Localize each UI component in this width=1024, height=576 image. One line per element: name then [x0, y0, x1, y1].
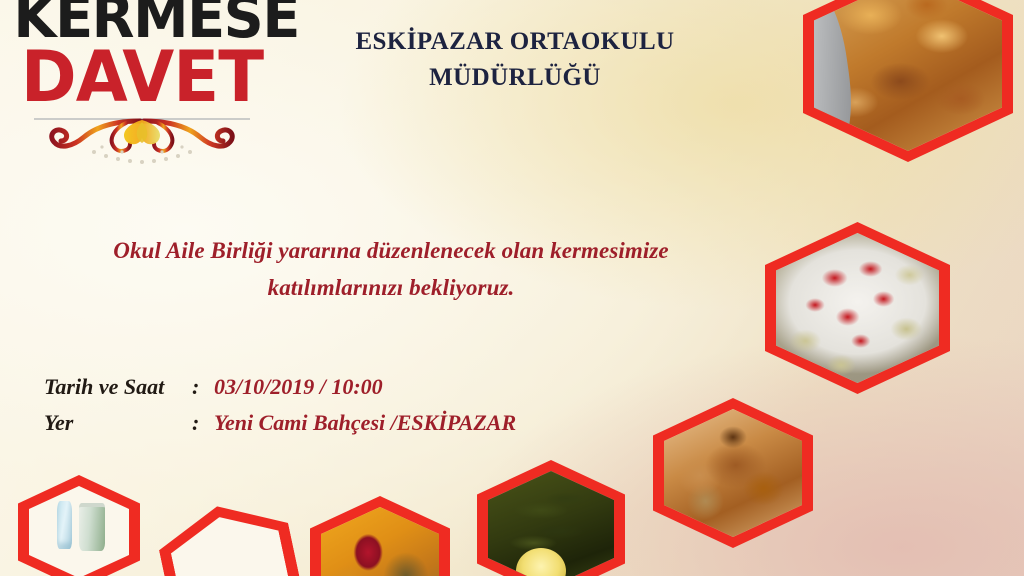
photo-hexagon-bundt-cake — [653, 398, 813, 548]
invitation-text: Okul Aile Birliği yararına düzenlenecek … — [46, 232, 736, 307]
event-details: Tarih ve Saat : 03/10/2019 / 10:00 Yer :… — [44, 369, 604, 440]
photo-hexagon-pide-slice — [153, 493, 308, 576]
detail-value-place: Yeni Cami Bahçesi /ESKİPAZAR — [214, 405, 516, 441]
organization-title: ESKİPAZAR ORTAOKULU MÜDÜRLÜĞÜ — [300, 24, 730, 95]
organization-title-line1: ESKİPAZAR ORTAOKULU — [300, 24, 730, 60]
photo-hexagon-breakfast-drinks-fruit — [18, 475, 140, 576]
invitation-text-line1: Okul Aile Birliği yararına düzenlenecek … — [46, 232, 736, 269]
logo-line-davet: DAVET — [13, 45, 270, 109]
manti-yogurt-photo — [776, 233, 939, 383]
borek-tray-photo — [814, 0, 1002, 151]
organization-title-line2: MÜDÜRLÜĞÜ — [300, 60, 730, 96]
photo-hexagon-sarma-lemon — [477, 460, 625, 576]
kermes-invitation-poster: KERMESE DAVET — [0, 0, 1024, 576]
photo-hexagon-asure-pomegranate — [310, 496, 450, 576]
bundt-cake-photo — [664, 409, 802, 537]
photo-hexagon-borek-tray — [803, 0, 1013, 162]
breakfast-drinks-fruit-photo — [29, 486, 129, 576]
detail-colon-place: : — [192, 405, 214, 441]
pide-slice-photo — [166, 506, 295, 576]
floral-flourish-ornament — [22, 105, 262, 167]
detail-row-place: Yer : Yeni Cami Bahçesi /ESKİPAZAR — [44, 405, 604, 441]
sarma-lemon-photo — [488, 471, 614, 576]
detail-label-place: Yer — [44, 405, 192, 441]
detail-value-date: 03/10/2019 / 10:00 — [214, 369, 383, 405]
detail-row-date: Tarih ve Saat : 03/10/2019 / 10:00 — [44, 369, 604, 405]
photo-hexagon-manti-yogurt — [765, 222, 950, 394]
detail-label-date: Tarih ve Saat — [44, 369, 192, 405]
detail-colon-date: : — [192, 369, 214, 405]
asure-pomegranate-photo — [321, 507, 439, 576]
kermes-logo: KERMESE DAVET — [8, 0, 276, 167]
invitation-text-line2: katılımlarınızı bekliyoruz. — [46, 269, 736, 306]
